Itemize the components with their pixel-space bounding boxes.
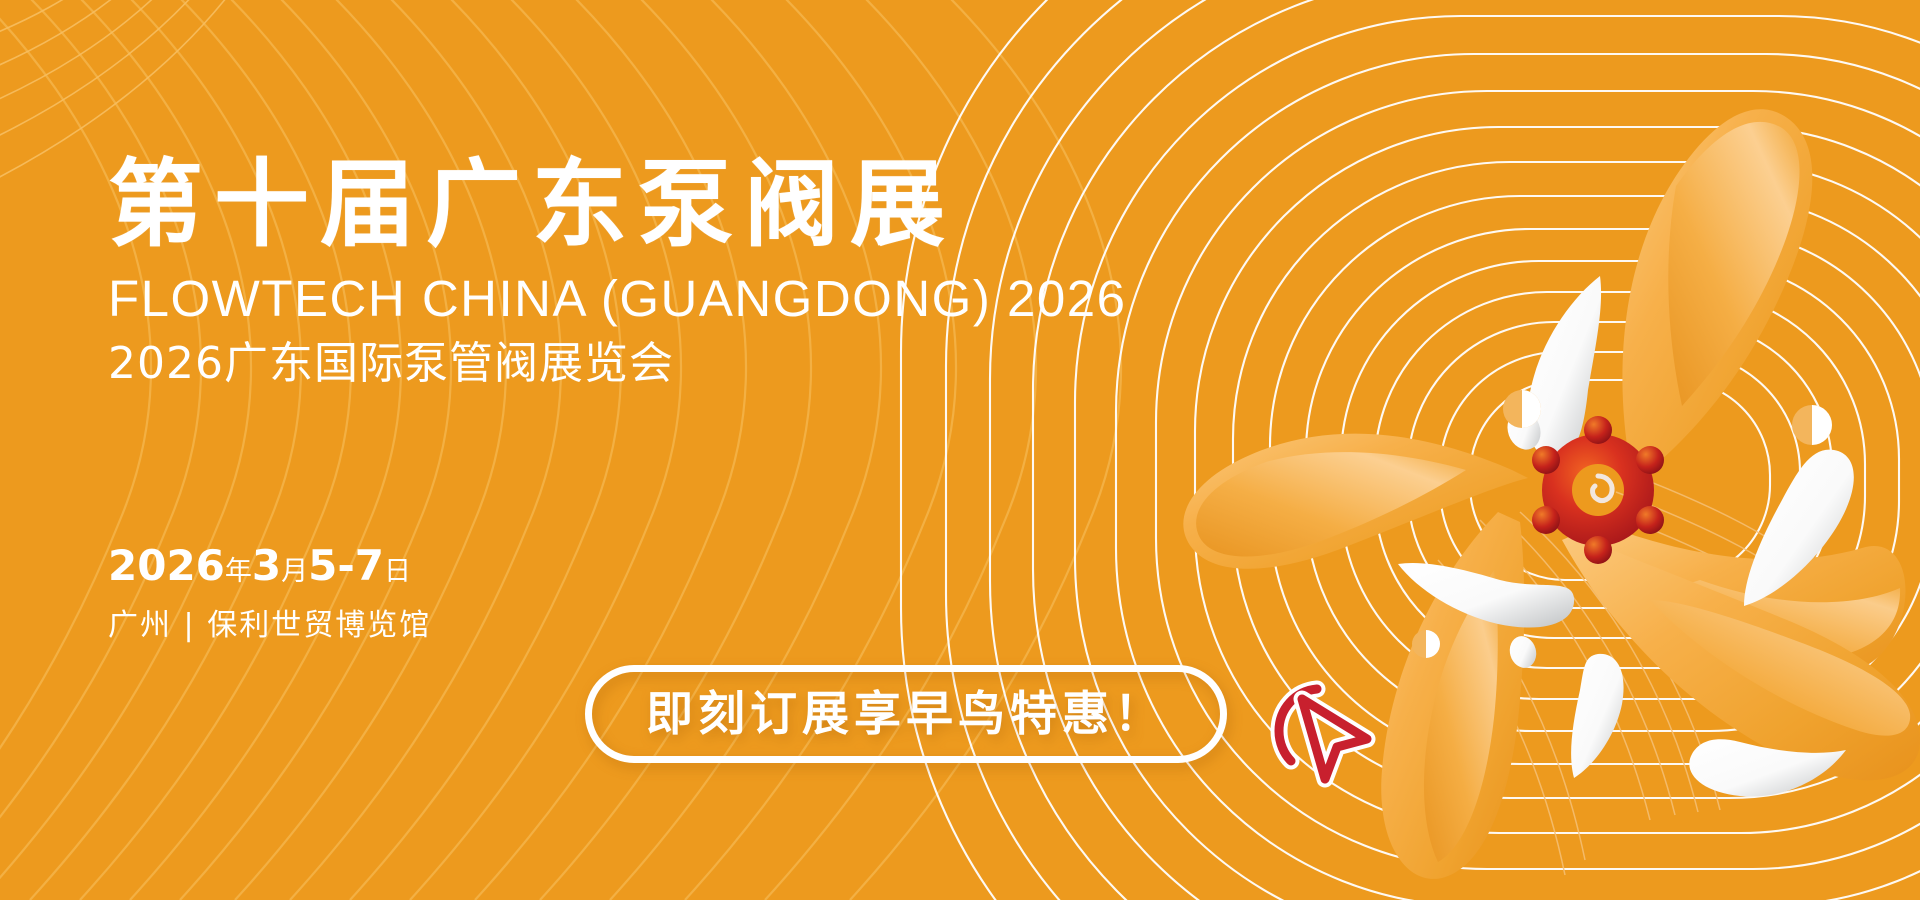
- title-english: FLOWTECH CHINA (GUANGDONG) 2026: [108, 273, 1126, 324]
- promo-banner: 第十届广东泵阀展 FLOWTECH CHINA (GUANGDONG) 2026…: [0, 0, 1920, 900]
- event-meta-block: 2026年3月5-7日 广州 | 保利世贸博览馆: [108, 545, 431, 641]
- page-title: 第十届广东泵阀展: [108, 158, 1126, 253]
- early-bird-cta-button[interactable]: 即刻订展享早鸟特惠！: [585, 665, 1227, 763]
- title-block: 第十届广东泵阀展 FLOWTECH CHINA (GUANGDONG) 2026…: [108, 158, 1126, 386]
- date-month: 3: [252, 541, 281, 590]
- event-date: 2026年3月5-7日: [108, 545, 431, 587]
- date-month-unit: 月: [281, 556, 308, 587]
- click-cursor-icon[interactable]: [1255, 655, 1405, 805]
- cta-label: 即刻订展享早鸟特惠！: [646, 691, 1166, 738]
- date-day-unit: 日: [384, 556, 411, 587]
- venue-name: 保利世贸博览馆: [207, 608, 431, 643]
- title-subtitle-cn: 2026广东国际泵管阀展览会: [108, 342, 1126, 386]
- date-year-unit: 年: [225, 556, 252, 587]
- cta-area: 即刻订展享早鸟特惠！: [585, 665, 1227, 763]
- event-venue: 广州 | 保利世贸博览馆: [108, 611, 431, 641]
- venue-city: 广州: [108, 608, 172, 643]
- date-days: 5-7: [308, 541, 384, 590]
- venue-separator: |: [184, 608, 196, 643]
- date-year: 2026: [108, 541, 225, 590]
